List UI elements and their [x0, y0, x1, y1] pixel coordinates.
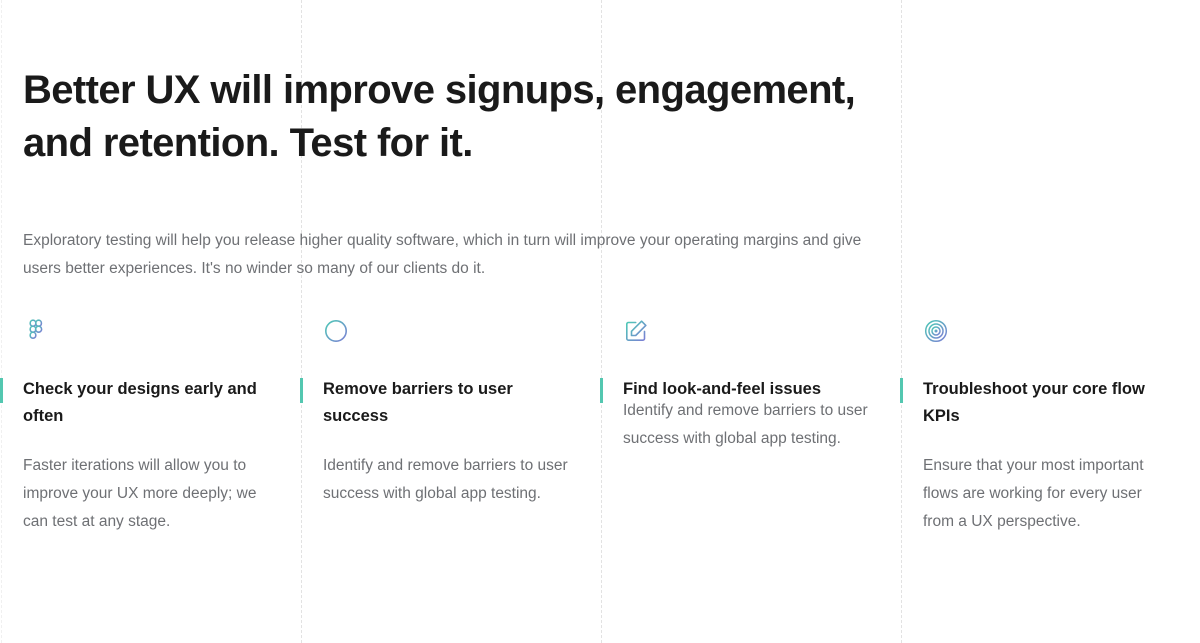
feature-card-4: Troubleshoot your core flow KPIs Ensure … — [900, 318, 1200, 536]
accent-bar — [600, 378, 603, 403]
feature-card-2: Remove barriers to user success Identify… — [300, 318, 600, 536]
alert-circle-icon — [323, 318, 349, 344]
feature-body: Ensure that your most important flows ar… — [923, 452, 1172, 536]
feature-grid: Check your designs early and often Faste… — [0, 318, 1200, 536]
feature-heading-row: Check your designs early and often — [23, 376, 272, 430]
intro-paragraph: Exploratory testing will help you releas… — [23, 227, 883, 283]
feature-card-1: Check your designs early and often Faste… — [0, 318, 300, 536]
feature-body: Identify and remove barriers to user suc… — [623, 397, 872, 453]
feature-heading: Check your designs early and often — [23, 376, 272, 430]
feature-heading-row: Find look-and-feel issues — [623, 376, 872, 403]
feature-heading-row: Remove barriers to user success — [323, 376, 572, 430]
accent-bar — [300, 378, 303, 403]
feature-body: Faster iterations will allow you to impr… — [23, 452, 272, 536]
page-headline: Better UX will improve signups, engageme… — [23, 64, 903, 170]
feature-section-page: Better UX will improve signups, engageme… — [0, 0, 1200, 643]
accent-bar — [900, 378, 903, 403]
feature-card-3: Find look-and-feel issues Identify and r… — [600, 318, 900, 536]
feature-heading: Find look-and-feel issues — [623, 376, 872, 403]
figma-icon — [23, 318, 49, 344]
feature-body: Identify and remove barriers to user suc… — [323, 452, 572, 508]
edit-square-icon — [623, 318, 649, 344]
target-bullseye-icon — [923, 318, 949, 344]
feature-heading-row: Troubleshoot your core flow KPIs — [923, 376, 1172, 430]
feature-heading: Remove barriers to user success — [323, 376, 572, 430]
accent-bar — [0, 378, 3, 403]
feature-heading: Troubleshoot your core flow KPIs — [923, 376, 1172, 430]
